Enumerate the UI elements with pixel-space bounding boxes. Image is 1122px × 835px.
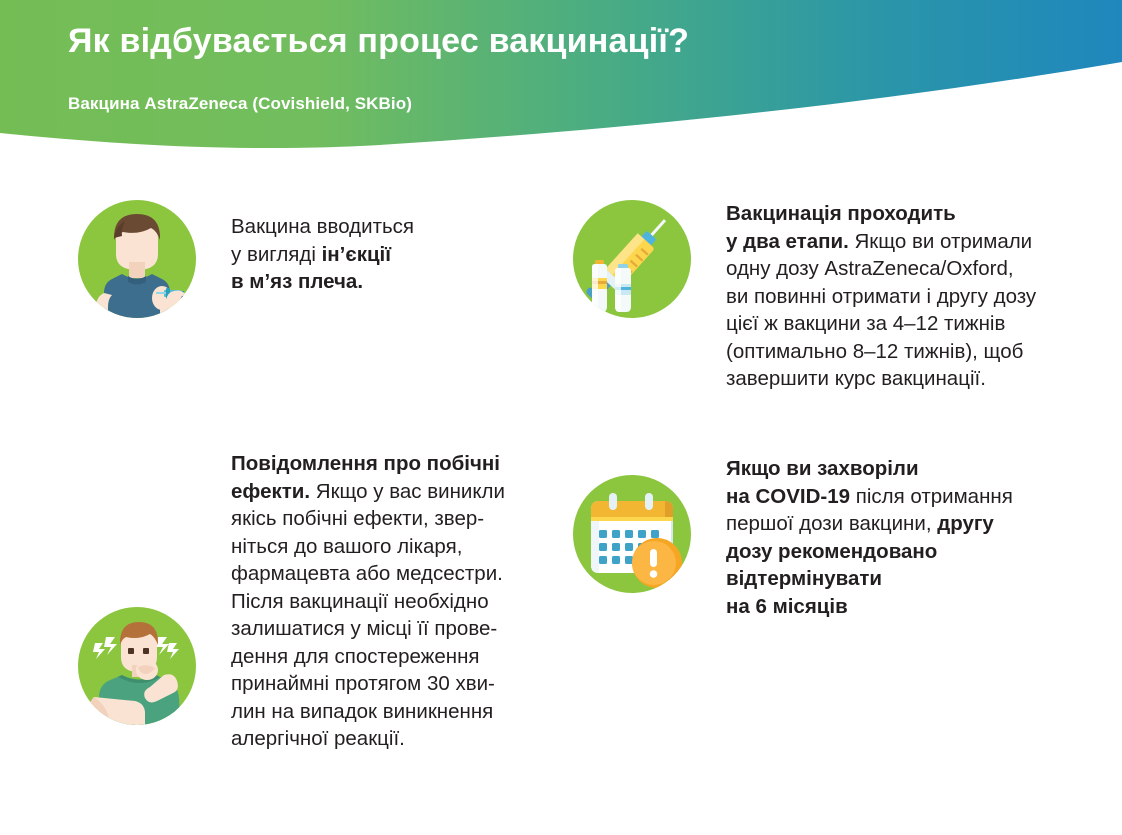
card-side-effects-text: Повідомлення про побічніефекти. Якщо у в… xyxy=(231,450,571,753)
content-area: Вакцина вводитьсяу вигляді ін’єкціїв м’я… xyxy=(0,160,1122,672)
card-covid-delay: Якщо ви захворілина COVID-19 після отрим… xyxy=(573,455,1093,620)
person-injection-icon xyxy=(78,200,196,318)
header-text-block: Як відбувається процес вакцинації? Вакци… xyxy=(68,22,968,114)
card-side-effects: Повідомлення про побічніефекти. Якщо у в… xyxy=(78,450,548,835)
calendar-alert-icon xyxy=(573,475,691,593)
page-header: Як відбувається процес вакцинації? Вакци… xyxy=(0,0,1122,160)
card-injection-text: Вакцина вводитьсяу вигляді ін’єкціїв м’я… xyxy=(196,200,548,296)
syringe-vials-icon xyxy=(573,200,691,318)
card-two-stage-text: Вакцинація проходитьу два етапи. Якщо ви… xyxy=(691,200,1071,393)
coughing-person-icon xyxy=(78,607,196,725)
page-subtitle: Вакцина AstraZeneca (Covishield, SKBio) xyxy=(68,61,968,114)
card-injection: Вакцина вводитьсяу вигляді ін’єкціїв м’я… xyxy=(78,200,548,318)
card-two-stage: Вакцинація проходитьу два етапи. Якщо ви… xyxy=(573,200,1093,393)
card-covid-delay-text: Якщо ви захворілина COVID-19 після отрим… xyxy=(691,455,1071,620)
page-title: Як відбувається процес вакцинації? xyxy=(68,22,968,61)
